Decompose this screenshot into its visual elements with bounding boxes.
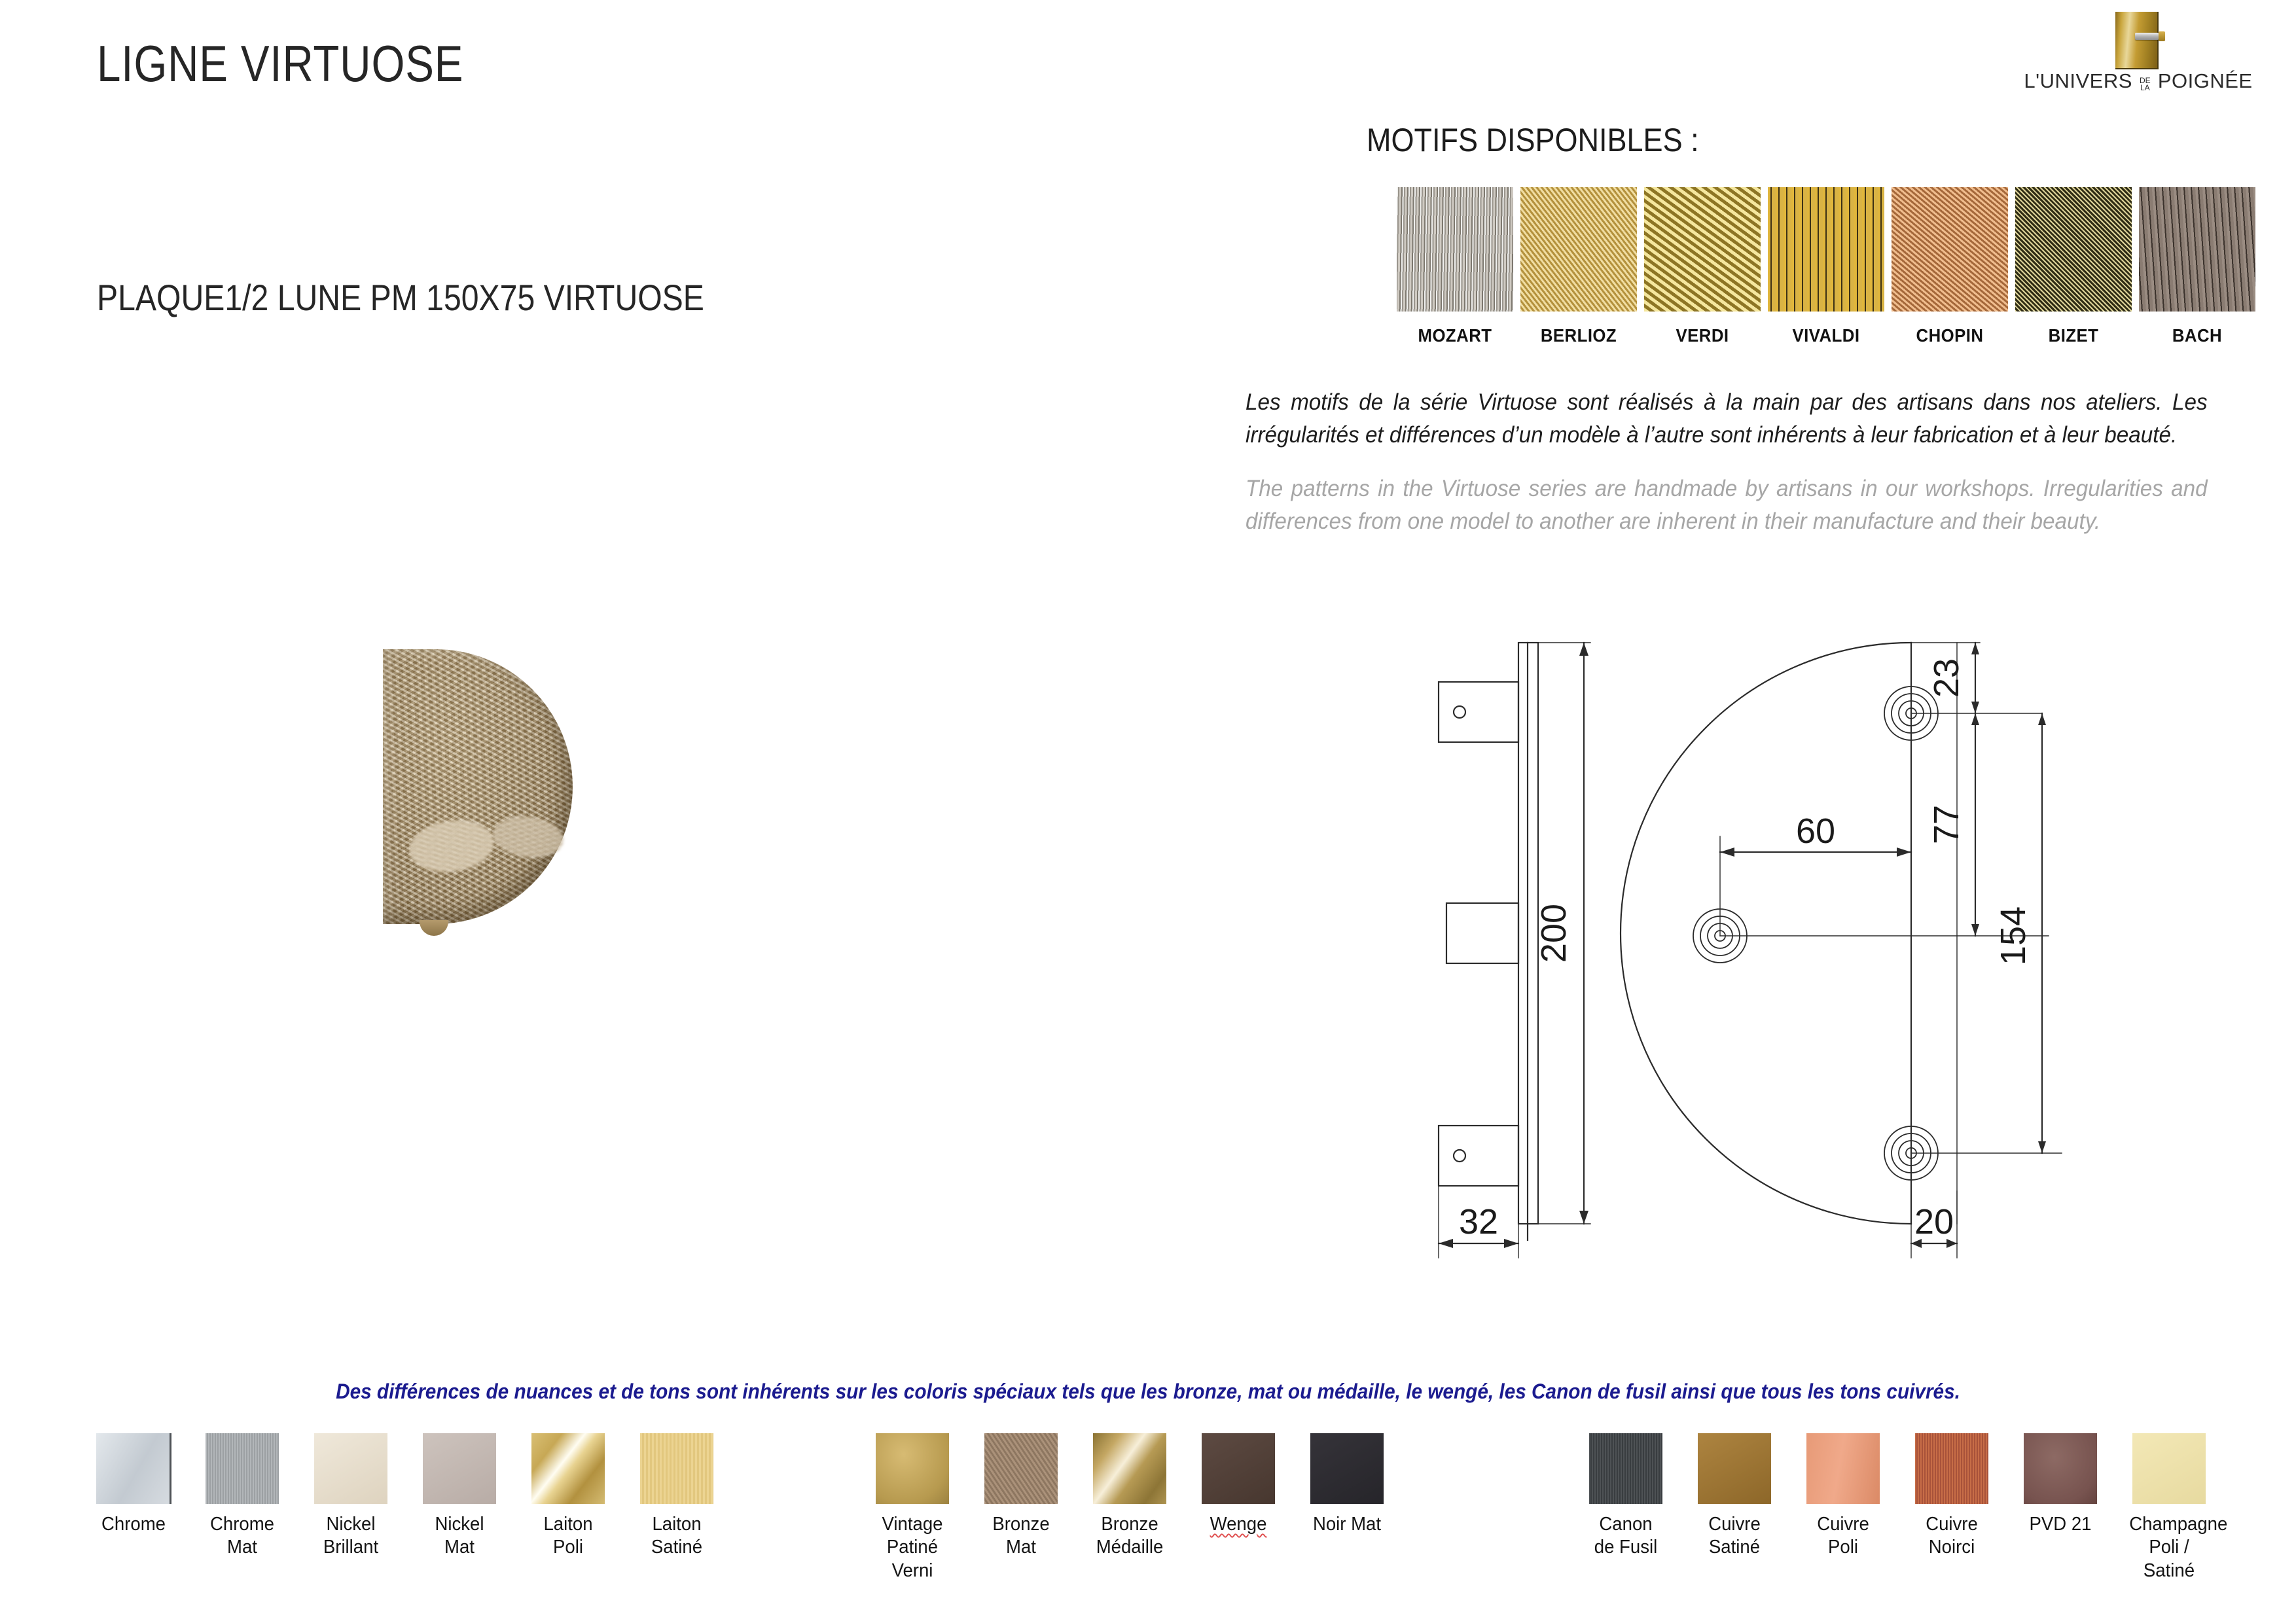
finish-item[interactable]: Bronze Mat — [979, 1433, 1063, 1560]
finish-item[interactable]: Bronze Médaille — [1088, 1433, 1172, 1560]
brand-logo: L'UNIVERS DE LA POIGNÉE — [1998, 7, 2279, 105]
dimension-200: 200 — [1534, 643, 1590, 1224]
finish-label: Bronze Médaille — [1090, 1513, 1170, 1560]
handmade-note-french: Les motifs de la série Virtuose sont réa… — [1246, 386, 2208, 451]
finish-label: Noir Mat — [1307, 1513, 1387, 1536]
motif-label-chopin: CHOPIN — [1896, 325, 2003, 346]
motif-swatch-verdi — [1644, 187, 1761, 312]
finish-group-bronzes: Vintage Patiné Verni Bronze Mat Bronze M… — [870, 1433, 1414, 1582]
finish-label: Cuivre Noirci — [1912, 1513, 1992, 1560]
motif-label-row: MOZART BERLIOZ VERDI VIVALDI CHOPIN BIZE… — [1397, 325, 2267, 346]
dim-label-77: 77 — [1927, 805, 1966, 844]
motif-swatch-strip — [1397, 187, 2267, 312]
brand-name-dela: DE LA — [2140, 77, 2151, 92]
front-view — [1621, 643, 1957, 1224]
motif-swatch-vivaldi — [1768, 187, 1884, 312]
finish-swatch-chrome-mat — [206, 1433, 279, 1504]
finish-label: Cuivre Poli — [1803, 1513, 1883, 1560]
motif-texture — [2015, 187, 2132, 312]
dimension-32: 32 — [1439, 1186, 1518, 1258]
finish-item[interactable]: Laiton Poli — [526, 1433, 610, 1560]
finish-label: Cuivre Satiné — [1695, 1513, 1774, 1560]
finish-swatch-nickel-brillant — [314, 1433, 387, 1504]
half-moon-plate-image — [383, 649, 573, 924]
finish-label: Laiton Poli — [528, 1513, 608, 1560]
finish-item[interactable]: PVD 21 — [2018, 1433, 2102, 1536]
finish-item[interactable]: Chrome — [92, 1433, 175, 1536]
finish-swatch-bronze-medaille — [1093, 1433, 1166, 1504]
finish-label: Nickel Brillant — [311, 1513, 391, 1560]
motif-label-mozart: MOZART — [1401, 325, 1509, 346]
dimension-20: 20 — [1911, 1191, 1957, 1258]
finish-swatch-laiton-poli — [531, 1433, 605, 1504]
motif-texture — [1644, 187, 1761, 312]
dim-label-20: 20 — [1914, 1202, 1954, 1241]
finish-label: Chrome Mat — [202, 1513, 282, 1560]
motifs-heading: MOTIFS DISPONIBLES : — [1367, 121, 1699, 159]
dimension-77: 77 — [1927, 713, 1979, 936]
finish-swatch-cuivre-satine — [1698, 1433, 1771, 1504]
finish-item[interactable]: Cuivre Poli — [1801, 1433, 1885, 1560]
door-plate-handle-icon — [2115, 12, 2161, 68]
finish-swatch-canon-de-fusil — [1589, 1433, 1662, 1504]
finish-swatch-champagne-poli-satine — [2132, 1433, 2206, 1504]
motif-label-verdi: VERDI — [1649, 325, 1756, 346]
dim-label-32: 32 — [1459, 1202, 1498, 1241]
logo-handle-shape — [2135, 33, 2160, 40]
finish-swatch-nickel-mat — [423, 1433, 496, 1504]
dim-label-23: 23 — [1927, 658, 1966, 698]
motif-texture — [1892, 187, 2008, 312]
dimension-154: 154 — [1994, 713, 2046, 1153]
finish-label: Vintage Patiné Verni — [872, 1513, 952, 1582]
technical-drawing: 200 32 60 — [1388, 628, 2121, 1283]
dim-label-154: 154 — [1994, 906, 2033, 965]
finish-swatch-laiton-satine — [640, 1433, 713, 1504]
finish-group-light-metals: Chrome Chrome Mat Nickel Brillant Nickel… — [92, 1433, 744, 1560]
motif-swatch-bach — [2139, 187, 2255, 312]
finish-item[interactable]: Noir Mat — [1305, 1433, 1389, 1536]
finish-item[interactable]: Nickel Mat — [418, 1433, 501, 1560]
finish-swatch-noir-mat — [1310, 1433, 1384, 1504]
finish-item[interactable]: Cuivre Satiné — [1693, 1433, 1776, 1560]
finish-item[interactable]: Nickel Brillant — [309, 1433, 393, 1560]
motif-swatch-berlioz — [1520, 187, 1637, 312]
motif-label-vivaldi: VIVALDI — [1772, 325, 1880, 346]
finish-label: PVD 21 — [2020, 1513, 2100, 1536]
logo-plate-shape — [2115, 12, 2159, 69]
dimension-23: 23 — [1911, 643, 1980, 713]
motif-swatch-mozart — [1397, 187, 1513, 312]
finish-swatch-chrome — [96, 1433, 171, 1504]
motif-texture — [1397, 187, 1513, 312]
finish-item[interactable]: Chrome Mat — [200, 1433, 284, 1560]
finish-label: Champagne Poli / Satiné — [2129, 1513, 2209, 1582]
finish-label: Canon de Fusil — [1586, 1513, 1666, 1560]
brand-name-part1: L'UNIVERS — [2024, 69, 2132, 92]
dim-label-60: 60 — [1796, 811, 1835, 851]
finish-caption: Des différences de nuances et de tons so… — [81, 1380, 2215, 1404]
finish-swatch-wenge — [1202, 1433, 1275, 1504]
finish-label: Bronze Mat — [981, 1513, 1061, 1560]
brand-name: L'UNIVERS DE LA POIGNÉE — [1998, 69, 2279, 93]
motif-swatch-chopin — [1892, 187, 2008, 312]
finish-swatch-pvd-21 — [2024, 1433, 2097, 1504]
product-photo — [383, 649, 573, 924]
finish-label: Laiton Satiné — [637, 1513, 717, 1560]
product-subtitle: PLAQUE1/2 LUNE PM 150X75 VIRTUOSE — [97, 276, 704, 319]
finish-item[interactable]: Laiton Satiné — [635, 1433, 719, 1560]
brand-name-la: LA — [2140, 84, 2151, 92]
finish-swatch-cuivre-noirci — [1915, 1433, 1988, 1504]
motif-texture — [1520, 187, 1637, 312]
finish-item[interactable]: Wenge — [1196, 1433, 1280, 1536]
finish-label: Wenge — [1198, 1513, 1278, 1536]
motif-texture — [1768, 187, 1884, 312]
brand-name-part2: POIGNÉE — [2158, 69, 2253, 92]
finish-swatch-vintage-patine-verni — [876, 1433, 949, 1504]
motif-label-bizet: BIZET — [2020, 325, 2127, 346]
dimension-60: 60 — [1720, 811, 1911, 936]
finish-group-coppers: Canon de Fusil Cuivre Satiné Cuivre Poli… — [1584, 1433, 2236, 1582]
motif-label-berlioz: BERLIOZ — [1525, 325, 1632, 346]
motif-swatch-bizet — [2015, 187, 2132, 312]
motif-label-bach: BACH — [2144, 325, 2251, 346]
finish-item[interactable]: Cuivre Noirci — [1910, 1433, 1994, 1560]
finish-swatch-bronze-mat — [984, 1433, 1058, 1504]
drawing-svg: 200 32 60 — [1388, 628, 2121, 1283]
finish-label: Chrome — [94, 1513, 173, 1536]
side-view — [1439, 643, 1538, 1240]
finish-swatch-cuivre-poli — [1806, 1433, 1880, 1504]
finish-label: Nickel Mat — [420, 1513, 499, 1560]
plate-stud — [420, 920, 448, 936]
dim-label-200: 200 — [1534, 904, 1573, 963]
page-title: LIGNE VIRTUOSE — [97, 34, 463, 94]
finish-item[interactable]: Canon de Fusil — [1584, 1433, 1668, 1560]
finish-item[interactable]: Vintage Patiné Verni — [870, 1433, 954, 1582]
motif-texture — [2139, 187, 2255, 312]
finish-item[interactable]: Champagne Poli / Satiné — [2127, 1433, 2211, 1582]
handmade-note-english: The patterns in the Virtuose series are … — [1246, 473, 2208, 537]
